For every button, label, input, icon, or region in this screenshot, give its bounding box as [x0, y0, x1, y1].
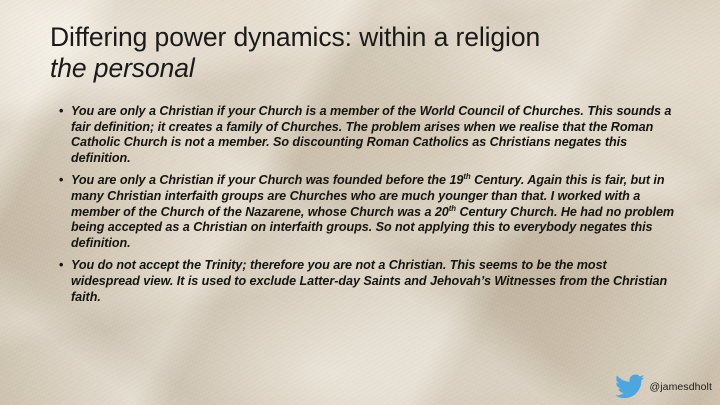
bullet-marker-icon: • [56, 173, 71, 189]
twitter-handle-label: @jamesdholt [649, 381, 712, 393]
list-item: • You do not accept the Trinity; therefo… [56, 258, 678, 305]
title-line-primary: Differing power dynamics: within a relig… [50, 22, 690, 53]
bullet-text-world-council-of-churches: You are only a Christian if your Church … [71, 104, 678, 166]
list-item: • You are only a Christian if your Churc… [56, 104, 678, 166]
presentation-slide: Differing power dynamics: within a relig… [0, 0, 720, 405]
title-line-subtitle: the personal [50, 53, 690, 84]
bullet-marker-icon: • [56, 258, 71, 274]
slide-footer: @jamesdholt [615, 374, 712, 399]
bullet-text-founded-before-19th-century: You are only a Christian if your Church … [71, 173, 678, 251]
bullet-marker-icon: • [56, 104, 71, 120]
list-item: • You are only a Christian if your Churc… [56, 173, 678, 251]
slide-title: Differing power dynamics: within a relig… [50, 22, 690, 83]
twitter-bird-icon[interactable] [615, 374, 645, 399]
bullet-text-trinity-requirement: You do not accept the Trinity; therefore… [71, 258, 678, 305]
slide-body: • You are only a Christian if your Churc… [56, 104, 678, 312]
